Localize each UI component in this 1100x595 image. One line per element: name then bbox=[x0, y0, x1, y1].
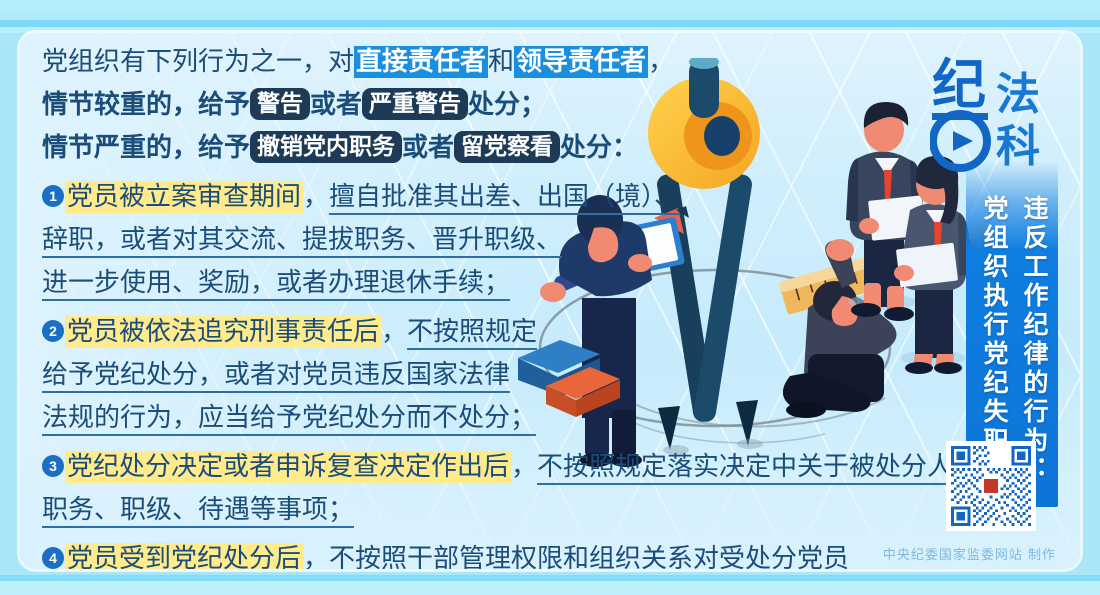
clause-line: 辞职，或者对其交流、提拔职务、晋升职级、 bbox=[42, 219, 1002, 262]
responsible-party-highlight: 领导责任者 bbox=[514, 46, 648, 78]
clause-conduct-underlined: 不按照规定 bbox=[407, 317, 537, 350]
clause-conduct-underlined: 擅自批准其出差、出国（境）、 bbox=[329, 182, 680, 215]
clause-conduct-underlined: 进一步使用、奖励，或者办理退休手续； bbox=[42, 268, 510, 301]
clause-line: 4党员受到党纪处分后，不按照干部管理权限和组织关系对受处分党员 bbox=[42, 538, 1002, 569]
intro-line: 情节严重的，给予撤销党内职务或者留党察看处分： bbox=[42, 127, 1002, 170]
sanction-badge: 撤销党内职务 bbox=[250, 131, 402, 163]
clause-line: 1党员被立案审查期间，擅自批准其出差、出国（境）、 bbox=[42, 176, 1002, 219]
intro-line: 情节较重的，给予警告或者严重警告处分； bbox=[42, 84, 1002, 127]
text-run: ， bbox=[303, 544, 329, 569]
body-text: 党组织有下列行为之一，对直接责任者和领导责任者，情节较重的，给予警告或者严重警告… bbox=[42, 41, 1002, 569]
logo-bar bbox=[932, 113, 988, 120]
clause-line: 进一步使用、奖励，或者办理退休手续； bbox=[42, 262, 1002, 305]
qr-code-svg bbox=[951, 446, 1031, 526]
frame-band-bottom-1 bbox=[0, 581, 1100, 595]
sanction-badge: 留党察看 bbox=[454, 131, 560, 163]
qr-code[interactable] bbox=[946, 441, 1036, 531]
clause-conduct-underlined: 给予党纪处分，或者对党员违反国家法律 bbox=[42, 360, 510, 393]
clause-condition-highlight: 党员受到党纪处分后 bbox=[65, 543, 303, 569]
clause-condition-highlight: 党员被依法追究刑事责任后 bbox=[65, 316, 381, 348]
text-run: 处分： bbox=[560, 133, 638, 163]
text-run: ， bbox=[511, 452, 537, 482]
clause-number-badge: 2 bbox=[42, 320, 64, 342]
text-run: 党组织有下列行为之一，对 bbox=[42, 47, 354, 77]
clause-line: 3党纪处分决定或者申诉复查决定作出后，不按照规定落实决定中关于被处分人党籍、 bbox=[42, 446, 1002, 489]
footer-credit: 中央纪委国家监委网站 制作 bbox=[883, 544, 1056, 563]
text-run: ， bbox=[303, 182, 329, 212]
text-run: 或者 bbox=[310, 90, 362, 120]
frame-band-top-1 bbox=[0, 0, 1100, 20]
clause-condition-highlight: 党员被立案审查期间 bbox=[65, 181, 303, 213]
text-run: 和 bbox=[488, 47, 514, 77]
clause-conduct-underlined: 不按照干部管理权限和组织关系对受处分党员 bbox=[329, 544, 849, 569]
responsible-party-highlight: 直接责任者 bbox=[354, 46, 488, 78]
intro-line: 党组织有下列行为之一，对直接责任者和领导责任者， bbox=[42, 41, 1002, 84]
clause-number-badge: 1 bbox=[42, 185, 64, 207]
clause-number-badge: 4 bbox=[42, 547, 64, 569]
text-run: 的，给予 bbox=[146, 90, 250, 120]
clause-line: 2党员被依法追究刑事责任后，不按照规定 bbox=[42, 311, 1002, 354]
sanction-badge: 警告 bbox=[250, 88, 310, 120]
sanction-badge: 严重警告 bbox=[362, 88, 468, 120]
content-panel: 党组织有下列行为之一，对直接责任者和领导责任者，情节较重的，给予警告或者严重警告… bbox=[20, 33, 1080, 569]
clause-conduct-underlined: 法规的行为，应当给予党纪处分而不处分； bbox=[42, 403, 536, 436]
text-run: ， bbox=[648, 47, 674, 77]
clause-line: 法规的行为，应当给予党纪处分而不处分； bbox=[42, 397, 1002, 440]
clause-conduct-underlined: 辞职，或者对其交流、提拔职务、晋升职级、 bbox=[42, 225, 562, 258]
text-run: ， bbox=[381, 317, 407, 347]
clause-line: 职务、职级、待遇等事项； bbox=[42, 489, 1002, 532]
clause-line: 给予党纪处分，或者对党员违反国家法律 bbox=[42, 354, 1002, 397]
logo-char-2: 法 bbox=[996, 69, 1040, 120]
text-run: 或者 bbox=[402, 133, 454, 163]
brand-logo-svg: 纪 法 科 bbox=[930, 51, 1062, 179]
clause-condition-highlight: 党纪处分决定或者申诉复查决定作出后 bbox=[65, 451, 511, 483]
text-run: 的，给予 bbox=[146, 133, 250, 163]
vertical-title-left: 党组织执行党纪失职 bbox=[972, 195, 1012, 456]
text-run: 情节严重 bbox=[42, 133, 146, 163]
clause-conduct-underlined: 职务、职级、待遇等事项； bbox=[42, 495, 354, 528]
frame-band-top-2 bbox=[0, 20, 1100, 27]
brand-logo: 纪 法 科 bbox=[930, 51, 1062, 179]
play-icon bbox=[953, 131, 973, 151]
text-run: 情节较重 bbox=[42, 90, 146, 120]
clause-number-badge: 3 bbox=[42, 455, 64, 477]
text-run: 处分； bbox=[468, 90, 546, 120]
logo-char-1: 纪 bbox=[932, 52, 986, 116]
poster-canvas: 党组织有下列行为之一，对直接责任者和领导责任者，情节较重的，给予警告或者严重警告… bbox=[0, 0, 1100, 595]
